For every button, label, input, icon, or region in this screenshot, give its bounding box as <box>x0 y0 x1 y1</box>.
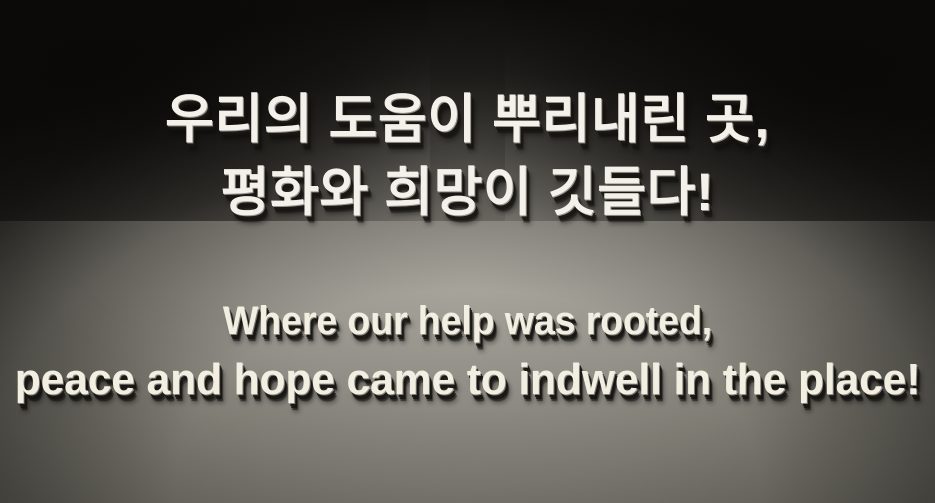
wall-sign-scene: 우리의 도움이 뿌리내린 곳, 평화와 희망이 깃들다! Where our h… <box>0 0 935 503</box>
sign-text-block: 우리의 도움이 뿌리내린 곳, 평화와 희망이 깃들다! Where our h… <box>0 0 935 503</box>
korean-headline-line-2: 평화와 희망이 깃들다! <box>0 166 935 219</box>
korean-headline-line-1: 우리의 도움이 뿌리내린 곳, <box>0 93 935 146</box>
english-headline-line-1: Where our help was rooted, <box>28 301 907 341</box>
english-headline-line-2: peace and hope came to indwell in the pl… <box>14 358 921 402</box>
